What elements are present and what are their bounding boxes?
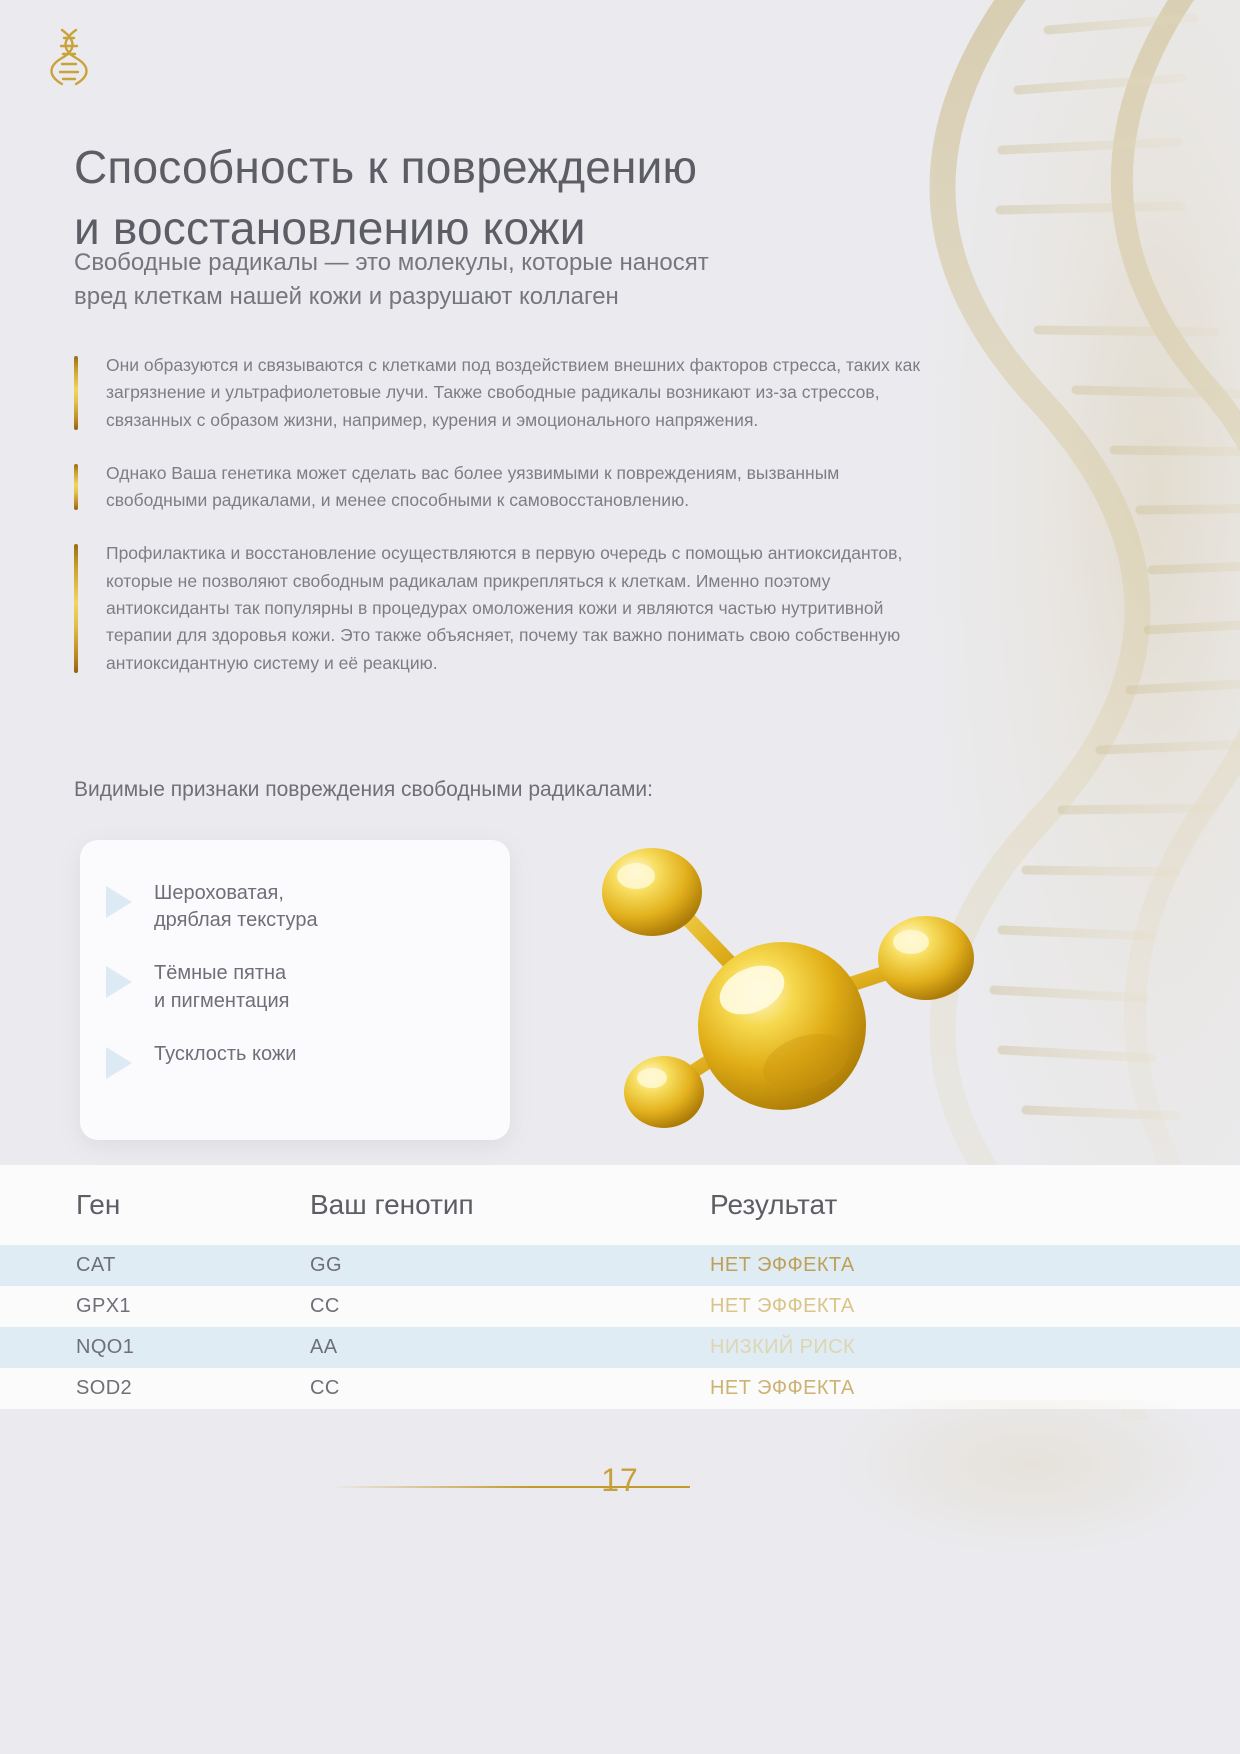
triangle-right-icon [106, 886, 132, 918]
cell-gene: CAT [0, 1254, 310, 1277]
info-block-text: Однако Ваша генетика может сделать вас б… [106, 460, 944, 515]
gold-accent-bar [74, 464, 78, 511]
visible-signs-card: Шероховатая, дряблая текстура Тёмные пят… [80, 840, 510, 1140]
page-title: Способность к повреждению и восстановлен… [74, 137, 974, 258]
list-item-label: Тёмные пятна и пигментация [154, 960, 289, 1014]
triangle-right-icon [106, 966, 132, 998]
list-item-line1: Тёмные пятна [154, 962, 286, 984]
cell-result: НЕТ ЭФФЕКТА [710, 1254, 1240, 1277]
column-header-gene: Ген [0, 1189, 310, 1221]
info-blocks: Они образуются и связываются с клетками … [74, 352, 944, 703]
cell-gene: GPX1 [0, 1295, 310, 1318]
table-row: CAT GG НЕТ ЭФФЕКТА [0, 1245, 1240, 1286]
info-block: Они образуются и связываются с клетками … [74, 352, 944, 434]
cell-genotype: GG [310, 1254, 710, 1277]
page-number: 17 [0, 1462, 1240, 1499]
column-header-result: Результат [710, 1189, 1240, 1221]
column-header-genotype: Ваш генотип [310, 1189, 710, 1221]
table-row: NQO1 AA НИЗКИЙ РИСК [0, 1327, 1240, 1368]
subtitle-line2: вред клеткам нашей кожи и разрушают колл… [74, 280, 954, 314]
cell-gene: SOD2 [0, 1377, 310, 1400]
info-block-text: Профилактика и восстановление осуществля… [106, 540, 944, 676]
triangle-right-icon [106, 1047, 132, 1079]
table-header-row: Ген Ваш генотип Результат [0, 1165, 1240, 1245]
list-item-line2: дряблая текстура [154, 909, 318, 931]
cell-genotype: CC [310, 1377, 710, 1400]
list-item: Тусклость кожи [106, 1041, 510, 1079]
page-subtitle: Свободные радикалы — это молекулы, котор… [74, 246, 954, 314]
cell-genotype: AA [310, 1336, 710, 1359]
info-block: Профилактика и восстановление осуществля… [74, 540, 944, 676]
gold-accent-bar [74, 356, 78, 430]
list-item: Шероховатая, дряблая текстура [106, 880, 510, 934]
cell-gene: NQO1 [0, 1336, 310, 1359]
list-item-line2: и пигментация [154, 990, 289, 1012]
cell-result: НЕТ ЭФФЕКТА [710, 1295, 1240, 1318]
subtitle-line1: Свободные радикалы — это молекулы, котор… [74, 246, 954, 280]
gold-molecule-image [560, 830, 1030, 1160]
page-title-line1: Способность к повреждению [74, 141, 697, 193]
cell-result: НИЗКИЙ РИСК [710, 1336, 1240, 1359]
list-item: Тёмные пятна и пигментация [106, 960, 510, 1014]
cell-result: НЕТ ЭФФЕКТА [710, 1377, 1240, 1400]
genotype-table: Ген Ваш генотип Результат CAT GG НЕТ ЭФФ… [0, 1165, 1240, 1409]
info-block-text: Они образуются и связываются с клетками … [106, 352, 944, 434]
list-item-label: Шероховатая, дряблая текстура [154, 880, 318, 934]
table-row: GPX1 CC НЕТ ЭФФЕКТА [0, 1286, 1240, 1327]
list-item-line1: Шероховатая, [154, 882, 284, 904]
cell-genotype: CC [310, 1295, 710, 1318]
list-item-label: Тусклость кожи [154, 1041, 296, 1068]
gold-accent-bar [74, 544, 78, 672]
info-block: Однако Ваша генетика может сделать вас б… [74, 460, 944, 515]
visible-signs-heading: Видимые признаки повреждения свободными … [74, 778, 974, 802]
dna-helix-icon [42, 26, 96, 88]
